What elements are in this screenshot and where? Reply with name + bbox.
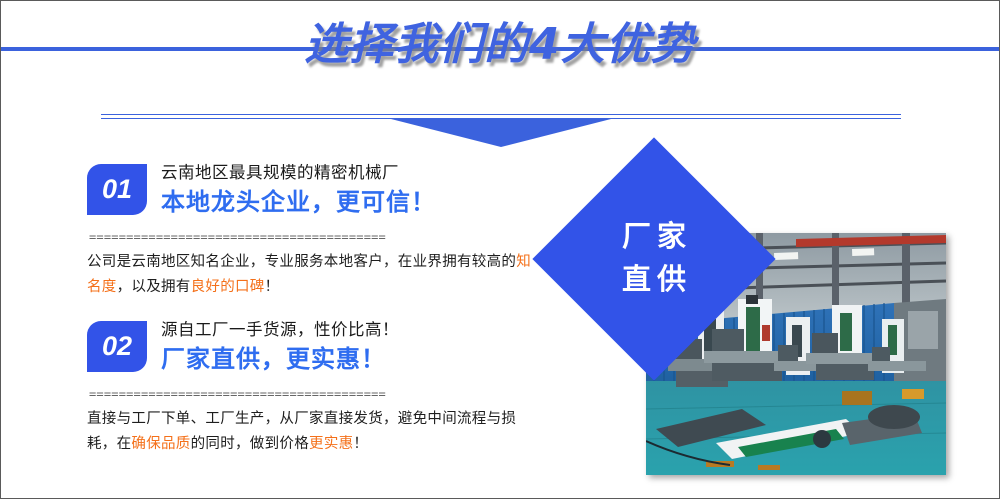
body-text: ！ [353,436,368,452]
feature-number-badge: 01 [87,164,147,215]
feature-heading: 01 云南地区最具规模的精密机械厂 本地龙头企业，更可信！ [87,161,557,219]
feature-item-02: 02 源自工厂一手货源，性价比高！ 厂家直供，更实惠！ ============… [87,318,557,457]
feature-subtitle: 云南地区最具规模的精密机械厂 [161,161,436,185]
body-text: ，以及拥有 [117,279,191,295]
feature-heading-text: 源自工厂一手货源，性价比高！ 厂家直供，更实惠！ [147,318,399,376]
feature-description: 直接与工厂下单、工厂生产，从厂家直接发货，避免中间流程与损耗，在确保品质的同时，… [87,407,542,457]
highlighted-text: 良好的口碑 [191,279,265,295]
feature-item-01: 01 云南地区最具规模的精密机械厂 本地龙头企业，更可信！ ==========… [87,161,557,300]
highlighted-text: 确保品质 [131,436,190,452]
feature-description: 公司是云南地区知名企业，专业服务本地客户，在业界拥有较高的知名度，以及拥有良好的… [87,250,542,300]
feature-heading-text: 云南地区最具规模的精密机械厂 本地龙头企业，更可信！ [147,161,436,219]
equals-rule: ======================================== [87,231,542,244]
banner-header: 选择我们的4大优势 [1,1,999,97]
feature-heading: 02 源自工厂一手货源，性价比高！ 厂家直供，更实惠！ [87,318,557,376]
page-title: 选择我们的4大优势 [1,5,999,85]
highlighted-text: 更实惠 [309,436,353,452]
feature-description-block: ========================================… [87,231,542,300]
feature-number-badge: 02 [87,321,147,372]
feature-description-block: ========================================… [87,388,542,457]
section-divider [101,114,901,150]
feature-subtitle: 源自工厂一手货源，性价比高！ [161,318,399,342]
feature-headline: 本地龙头企业，更可信！ [161,187,436,219]
promo-banner: 选择我们的4大优势 01 云南地区最具规模的精密机械厂 本地龙头企业，更可信！ … [0,0,1000,499]
body-text: 的同时，做到价格 [191,436,309,452]
body-text: 公司是云南地区知名企业，专业服务本地客户，在业界拥有较高的 [87,254,516,270]
body-text: ！ [265,279,280,295]
chevron-down-icon [391,119,611,147]
equals-rule: ======================================== [87,388,542,401]
feature-list: 01 云南地区最具规模的精密机械厂 本地龙头企业，更可信！ ==========… [87,161,557,475]
divider-line-top [101,114,901,115]
feature-headline: 厂家直供，更实惠！ [161,344,399,376]
